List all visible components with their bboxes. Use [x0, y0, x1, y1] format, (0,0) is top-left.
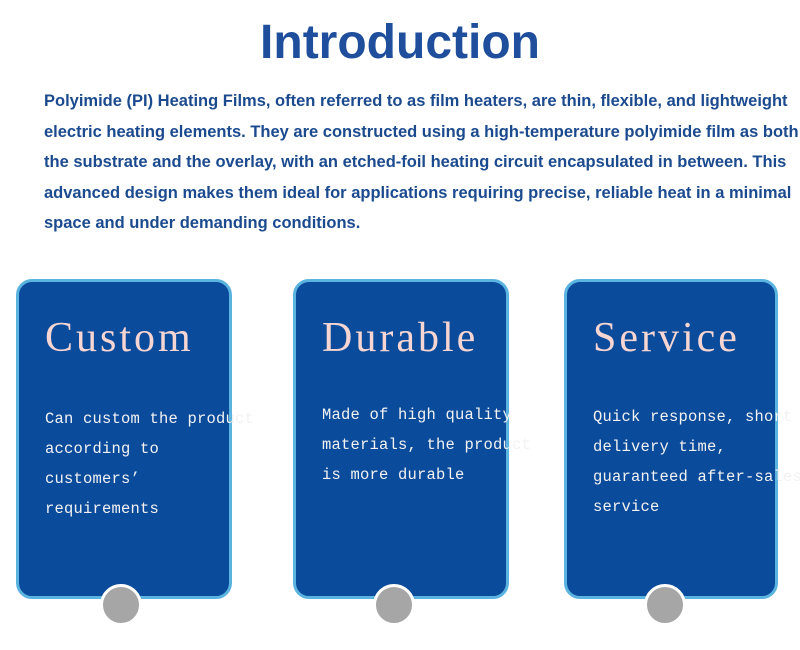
- feature-card-title: Service: [593, 314, 740, 362]
- feature-card-body: Can custom the product according to cust…: [45, 404, 260, 524]
- feature-card-service[interactable]: Service Quick response, short delivery t…: [564, 279, 778, 599]
- feature-cards-row: Custom Can custom the product according …: [0, 0, 800, 650]
- feature-card-durable[interactable]: Durable Made of high quality materials, …: [293, 279, 509, 599]
- card-knob-circle-icon: [373, 584, 415, 626]
- slide-root: { "slide": { "title": "Introduction", "t…: [0, 0, 800, 650]
- feature-card-title: Durable: [322, 314, 478, 362]
- card-knob-circle-icon: [100, 584, 142, 626]
- card-knob-circle-icon: [644, 584, 686, 626]
- feature-card-title: Custom: [45, 314, 194, 362]
- feature-card-custom[interactable]: Custom Can custom the product according …: [16, 279, 232, 599]
- feature-card-body: Quick response, short delivery time, gua…: [593, 402, 800, 522]
- feature-card-body: Made of high quality materials, the prod…: [322, 400, 537, 490]
